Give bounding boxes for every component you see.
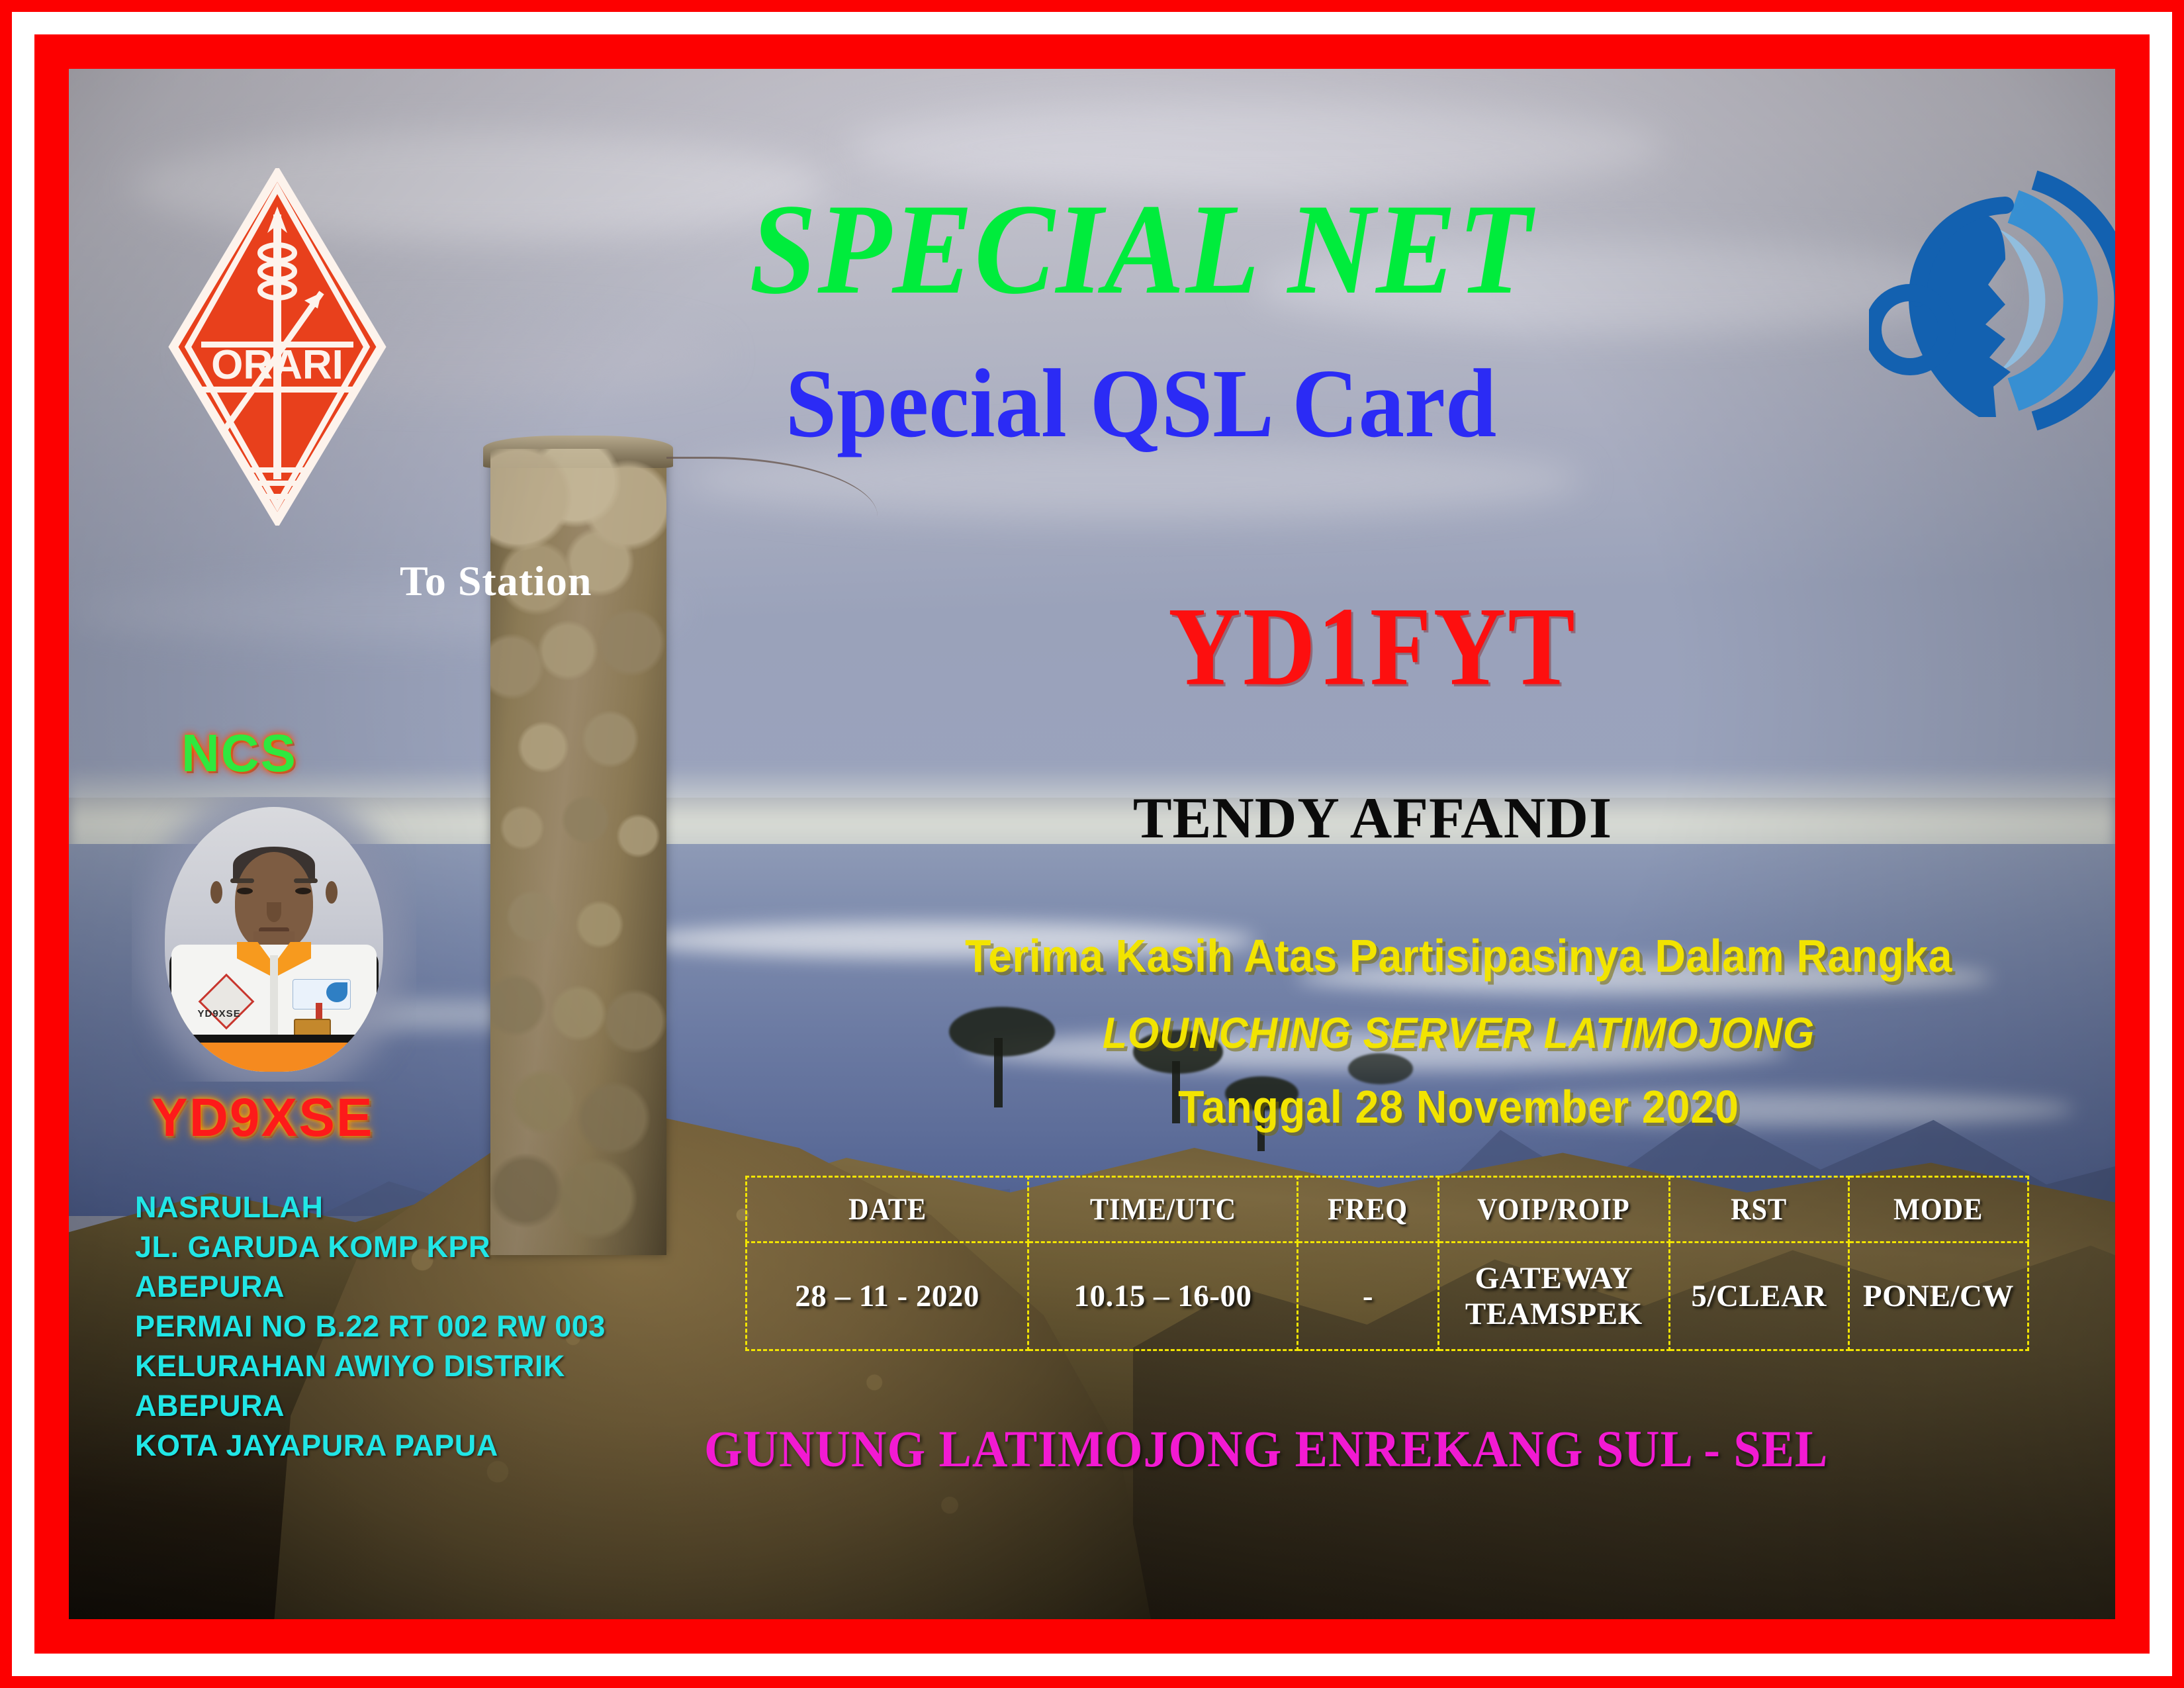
page-title-special-net: SPECIAL NET [557,185,1726,314]
cell-freq: - [1297,1243,1438,1350]
address-line: ABEPURA [135,1267,606,1307]
eye-right [295,888,311,894]
eye-left [237,888,253,894]
eyebrow-left [230,878,254,883]
address-line: KOTA JAYAPURA PAPUA [135,1426,606,1466]
ncs-callsign: YD9XSE [152,1087,374,1149]
orari-logo-text: ORARI [211,342,343,388]
col-header-date: DATE [760,1177,1015,1243]
voip-headset-logo-icon [1869,168,2115,433]
ncs-label: NCS [181,723,297,784]
eyebrow-right [294,878,318,883]
cell-voip-line-2: TEAMSPEK [1439,1296,1668,1332]
thanks-block: Terima Kasih Atas Partisipasinya Dalam R… [810,929,2107,1133]
col-header-voip: VOIP/ROIP [1450,1177,1658,1243]
address-line: NASRULLAH [135,1188,606,1227]
ncs-operator-photo: YD9XSE [132,797,416,1082]
frame-white-band: ORARI [12,12,2172,1676]
address-line: JL. GARUDA KOMP KPR [135,1227,606,1267]
card-photo-area: ORARI [69,69,2115,1619]
address-line: PERMAI NO B.22 RT 002 RW 003 [135,1307,606,1346]
ear-right [326,881,338,904]
location-line: GUNUNG LATIMOJONG ENREKANG SUL - SEL [704,1419,1962,1479]
thanks-line-1: Terima Kasih Atas Partisipasinya Dalam R… [862,929,2055,982]
col-header-freq: FREQ [1304,1177,1432,1243]
orari-logo: ORARI [168,168,387,526]
cell-voip-line-1: GATEWAY [1439,1260,1668,1296]
col-header-mode: MODE [1858,1177,2019,1243]
qso-log-table: DATE TIME/UTC FREQ VOIP/ROIP RST MODE 28… [745,1176,2029,1351]
address-line: KELURAHAN AWIYO DISTRIK [135,1346,606,1386]
thanks-line-3-date: Tanggal 28 November 2020 [862,1080,2055,1133]
to-station-label: To Station [400,557,592,606]
table-row: 28 – 11 - 2020 10.15 – 16-00 - GATEWAY T… [747,1243,2028,1350]
col-header-time: TIME/UTC [1042,1177,1284,1243]
orari-logo-icon: ORARI [168,168,387,526]
cell-rst: 5/CLEAR [1669,1243,1848,1350]
cell-time: 10.15 – 16-00 [1028,1243,1298,1350]
uniform-callsign-text: YD9XSE [198,1008,241,1019]
recipient-operator-name: TENDY AFFANDI [942,785,1803,852]
recipient-callsign: YD1FYT [942,582,1803,711]
cell-voip: GATEWAY TEAMSPEK [1438,1243,1669,1350]
shirt-placket [270,955,278,1040]
address-line: ABEPURA [135,1386,606,1426]
content-layer: ORARI [69,69,2115,1619]
avatar: YD9XSE [165,807,383,1072]
col-header-rst: RST [1678,1177,1840,1243]
nose [267,902,281,922]
page-subtitle-qsl-card: Special QSL Card [550,355,1732,453]
waist-band [171,1043,377,1072]
cell-mode: PONE/CW [1848,1243,2028,1350]
voip-headset-logo [1869,168,2115,433]
thanks-line-2-event: LOUNCHING SERVER LATIMOJONG [862,1008,2055,1058]
table-header-row: DATE TIME/UTC FREQ VOIP/ROIP RST MODE [747,1177,2028,1243]
frame-inner-red-band: ORARI [34,34,2150,1654]
cell-date: 28 – 11 - 2020 [747,1243,1028,1350]
qsl-card-frame: ORARI [0,0,2184,1688]
sender-address-block: NASRULLAH JL. GARUDA KOMP KPR ABEPURA PE… [135,1188,606,1466]
